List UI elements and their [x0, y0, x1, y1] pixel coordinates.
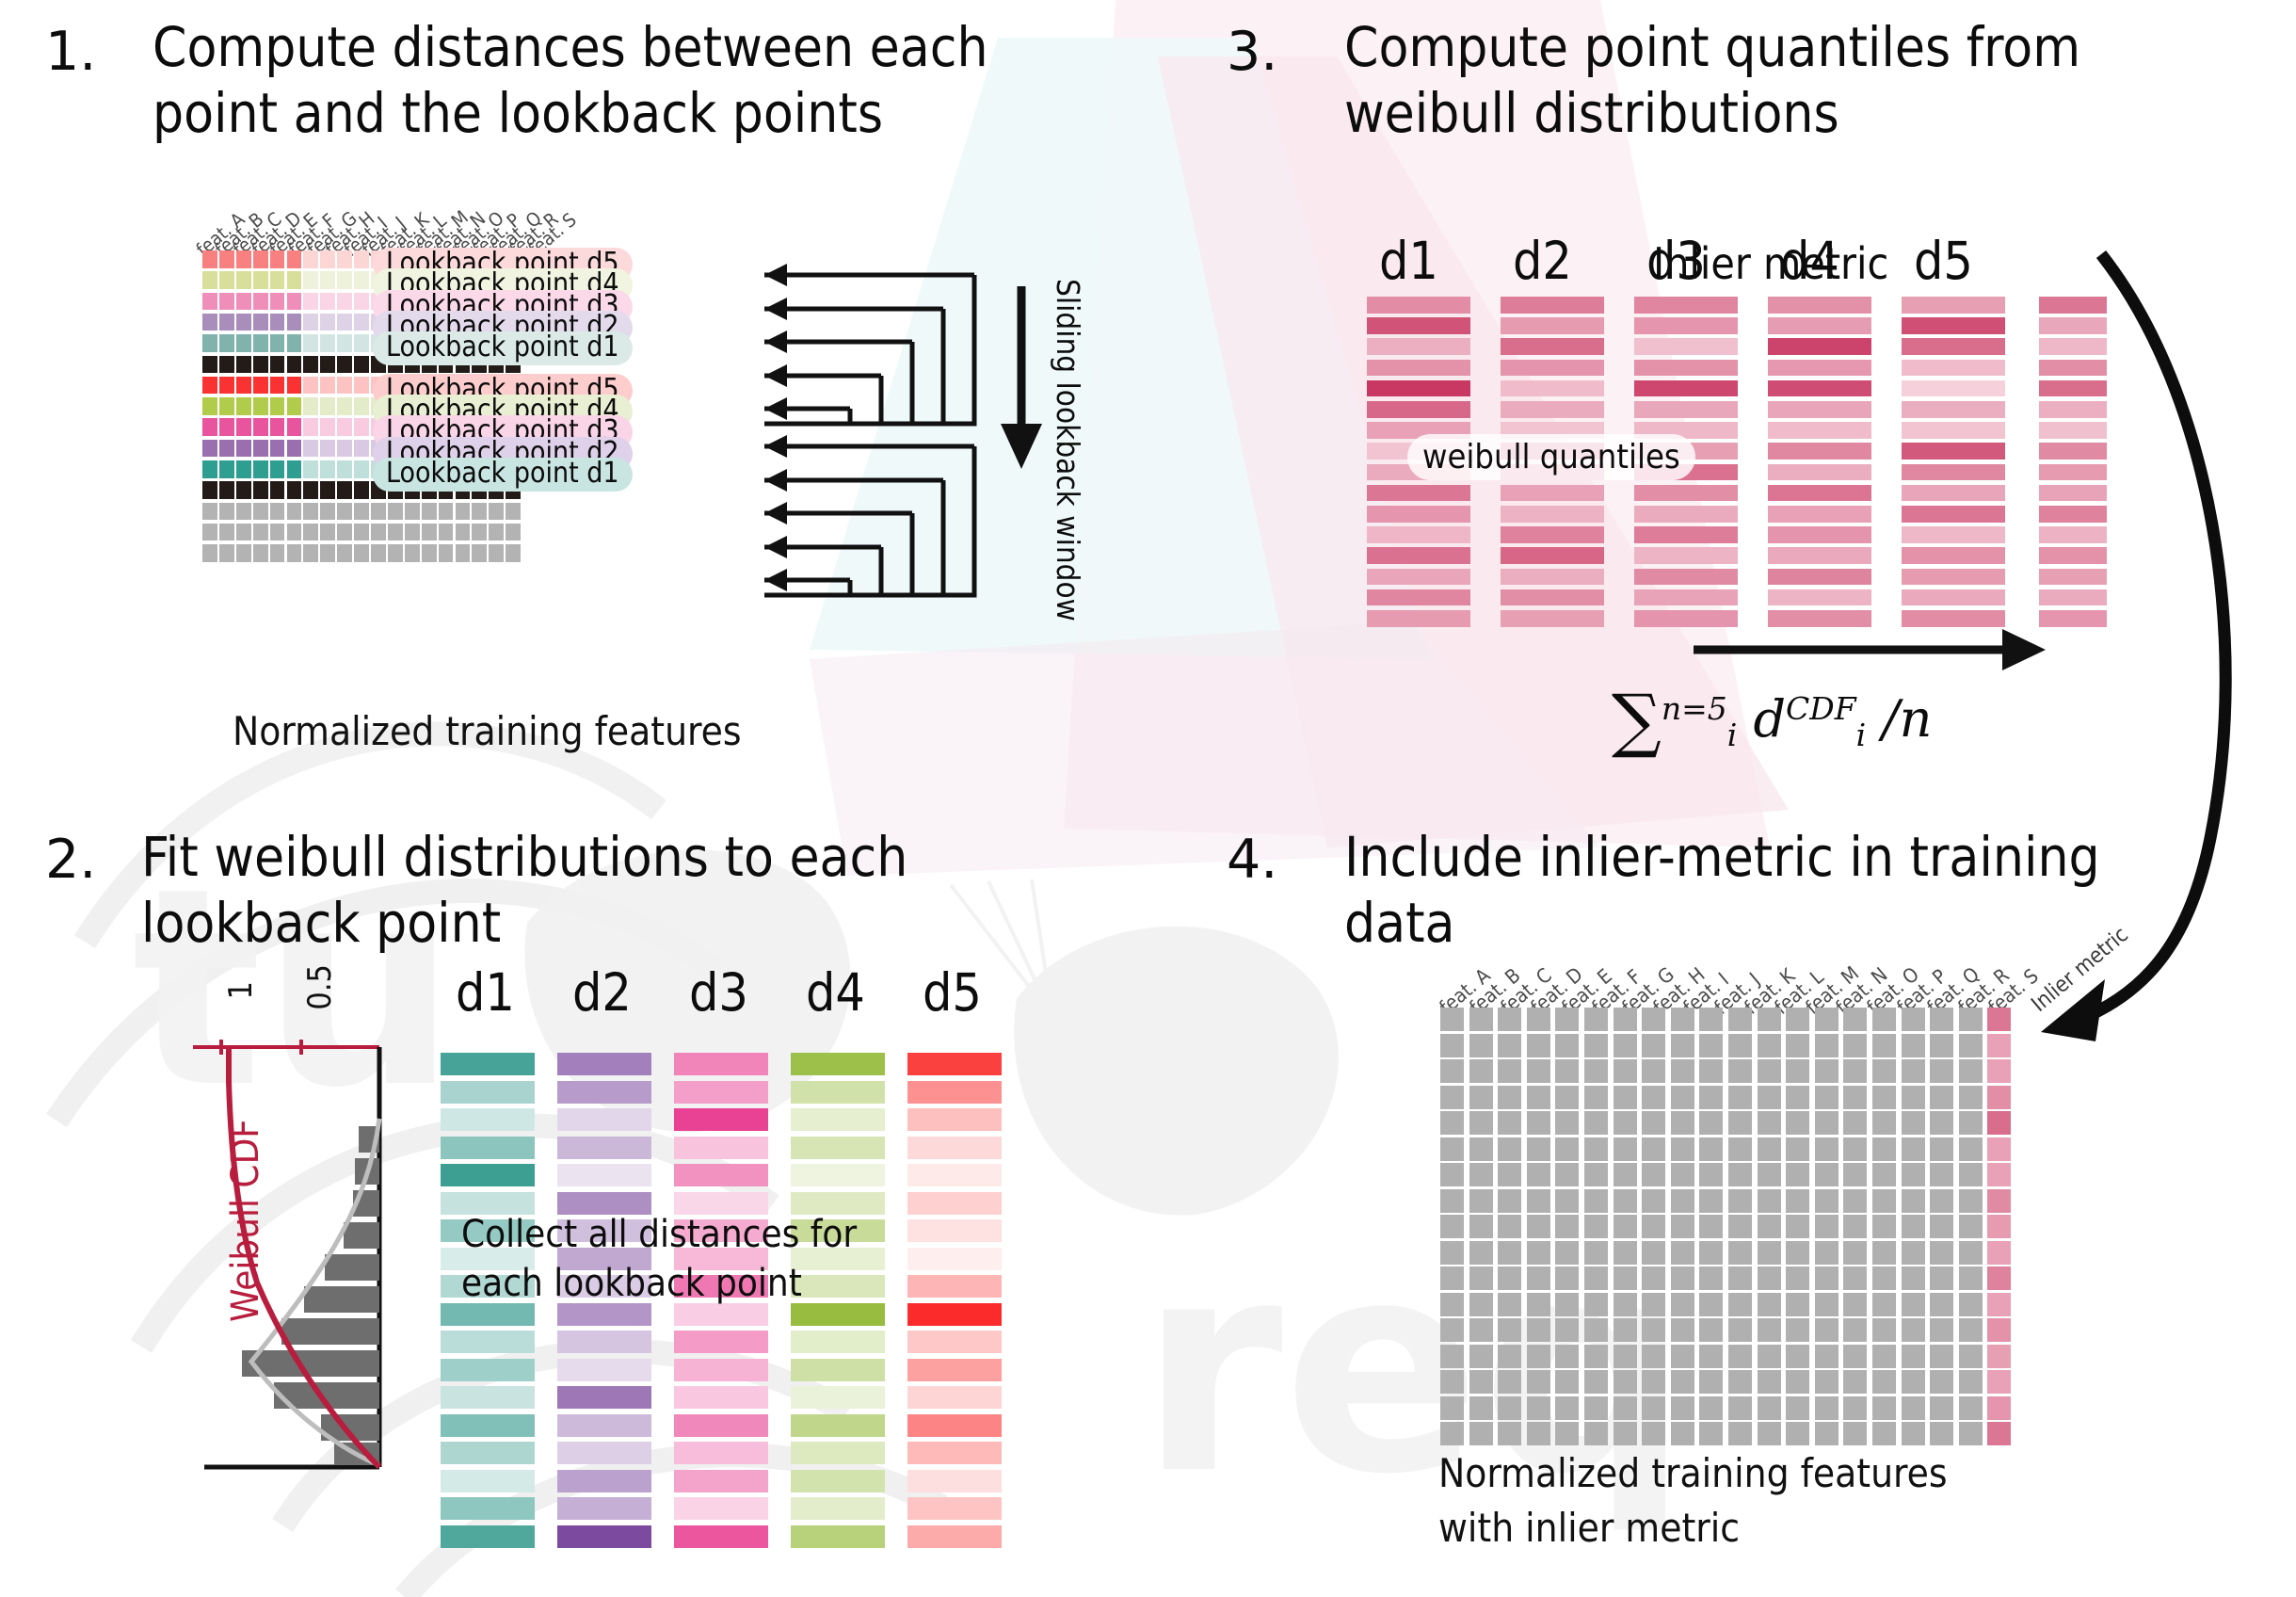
panel1-cell — [405, 503, 420, 521]
panel1-cell — [354, 271, 369, 289]
panel4-cell — [1440, 1059, 1464, 1083]
panel2-stack-cell — [674, 1192, 768, 1215]
panel4-cell — [1728, 1396, 1752, 1420]
panel3-heat-cell — [1501, 589, 1604, 606]
panel1-cell — [219, 397, 234, 415]
panel2-column-label-d4: d4 — [806, 962, 865, 1023]
panel4-cell — [1614, 1189, 1637, 1213]
panel3-heat-cell — [1768, 401, 1871, 418]
panel1-cell — [287, 314, 302, 331]
panel1-cell — [253, 481, 268, 499]
panel3-heat-cell — [1768, 547, 1871, 564]
panel2-stack-cell — [674, 1470, 768, 1492]
panel1-cell — [202, 250, 217, 268]
panel3-heat-cell — [1501, 610, 1604, 627]
panel4-cell — [1758, 1215, 1781, 1238]
panel1-cell — [456, 544, 471, 562]
panel2-stack-cell — [441, 1525, 535, 1548]
panel4-inlier-cell — [1987, 1034, 2011, 1057]
panel4-cell — [1498, 1086, 1521, 1109]
panel1-cell — [287, 418, 302, 436]
panel1-cell — [236, 250, 251, 268]
panel2-column-label-d2: d2 — [572, 962, 632, 1023]
panel4-cell — [1469, 1008, 1493, 1031]
panel2-stack-cell — [441, 1137, 535, 1159]
panel1-cell — [354, 314, 369, 331]
panel4-cell — [1786, 1189, 1809, 1213]
panel4-cell — [1758, 1111, 1781, 1135]
panel1-cell — [202, 334, 217, 352]
panel4-cell — [1786, 1059, 1809, 1083]
panel4-cell — [1498, 1215, 1521, 1238]
panel1-cell — [439, 524, 454, 541]
panel4-cell — [1758, 1370, 1781, 1394]
panel3-heat-cell — [1501, 338, 1604, 355]
panel1-cell — [287, 544, 302, 562]
panel4-cell — [1527, 1008, 1550, 1031]
panel4-cell — [1498, 1318, 1521, 1342]
panel4-cell — [1614, 1059, 1637, 1083]
panel1-cell — [202, 293, 217, 311]
panel4-cell — [1786, 1318, 1809, 1342]
panel1-cell — [354, 460, 369, 478]
panel4-cell — [1959, 1059, 1983, 1083]
panel2-stack-cell — [441, 1303, 535, 1326]
panel3-heat-cell — [1634, 297, 1738, 314]
panel1-cell — [270, 524, 285, 541]
panel4-cell — [1872, 1266, 1896, 1290]
panel1-cell — [472, 544, 487, 562]
panel1-cell — [354, 440, 369, 458]
panel4-cell — [1758, 1189, 1781, 1213]
panel4-cell — [1469, 1241, 1493, 1265]
weibull-cdf-curve-label: Weibull CDF — [224, 1119, 267, 1322]
panel4-cell — [1642, 1163, 1665, 1186]
panel1-cell — [202, 481, 217, 499]
panel4-cell — [1930, 1266, 1953, 1290]
panel4-cell — [1786, 1215, 1809, 1238]
panel4-cell — [1527, 1266, 1550, 1290]
panel4-cell — [1469, 1111, 1493, 1135]
panel4-cell — [1758, 1086, 1781, 1109]
panel4-cell — [1469, 1370, 1493, 1394]
panel1-cell — [219, 440, 234, 458]
panel4-cell — [1872, 1111, 1896, 1135]
panel4-cell — [1699, 1086, 1723, 1109]
panel1-arrow-connectors-lower — [744, 426, 988, 802]
panel3-title-line1: Compute point quantiles from — [1344, 17, 2080, 78]
panel3-heat-cell — [1367, 485, 1470, 502]
panel4-cell — [1930, 1293, 1953, 1316]
panel3-heat-cell — [1367, 297, 1470, 314]
panel2-stack-cell — [557, 1414, 651, 1437]
panel4-cell — [1642, 1034, 1665, 1057]
panel1-cell — [287, 397, 302, 415]
panel1-cell — [506, 544, 521, 562]
panel1-cell — [489, 503, 504, 521]
panel1-cell — [236, 524, 251, 541]
panel2-stack-cell — [791, 1164, 885, 1186]
panel4-cell — [1815, 1059, 1838, 1083]
panel4-cell — [1614, 1086, 1637, 1109]
panel2-stack-cell — [441, 1081, 535, 1104]
panel1-cell — [253, 377, 268, 395]
panel4-cell — [1872, 1396, 1896, 1420]
panel4-cell — [1440, 1137, 1464, 1161]
panel4-cell — [1786, 1293, 1809, 1316]
panel1-cell — [337, 524, 352, 541]
panel4-cell — [1527, 1059, 1550, 1083]
panel2-stack-cell — [674, 1359, 768, 1381]
panel1-cell — [287, 377, 302, 395]
panel1-cell — [337, 481, 352, 499]
panel3-heat-cell — [1902, 422, 2005, 439]
panel4-cell — [1498, 1059, 1521, 1083]
panel4-cell — [1555, 1215, 1579, 1238]
panel4-cell — [1555, 1293, 1579, 1316]
panel3-inlier-metric-label: Inlier metric — [1653, 238, 1888, 289]
panel1-cell — [456, 503, 471, 521]
panel3-heat-cell — [1768, 526, 1871, 543]
panel1-cell — [303, 314, 318, 331]
panel1-lookback-pill: Lookback point d1 — [373, 331, 633, 365]
panel4-cell — [1699, 1241, 1723, 1265]
panel2-stack-cell — [791, 1137, 885, 1159]
panel1-cell — [303, 544, 318, 562]
panel1-cell — [202, 356, 217, 374]
panel2-stack-cell — [907, 1248, 1002, 1270]
panel4-cell — [1555, 1370, 1579, 1394]
panel4-cell — [1930, 1163, 1953, 1186]
panel1-cell — [202, 377, 217, 395]
panel4-cell — [1527, 1396, 1550, 1420]
panel3-heat-cell — [1367, 317, 1470, 334]
panel4-cell — [1959, 1137, 1983, 1161]
panel4-cell — [1815, 1163, 1838, 1186]
panel1-cell — [337, 293, 352, 311]
panel4-cell — [1671, 1345, 1694, 1368]
panel1-cell — [405, 544, 420, 562]
panel1-cell — [354, 418, 369, 436]
panel4-cell — [1930, 1318, 1953, 1342]
panel2-stack-cell — [557, 1442, 651, 1464]
panel1-cell — [405, 524, 420, 541]
panel3-heat-cell — [1367, 589, 1470, 606]
panel4-cell — [1728, 1059, 1752, 1083]
panel4-cell — [1728, 1345, 1752, 1368]
panel1-cell — [270, 418, 285, 436]
panel4-cell — [1527, 1422, 1550, 1445]
panel3-heat-cell — [1768, 380, 1871, 397]
panel4-cell — [1872, 1086, 1896, 1109]
weibull-cdf-tick-05: 0.5 — [301, 964, 339, 1010]
panel1-cell — [270, 293, 285, 311]
panel3-heat-cell — [1634, 380, 1738, 397]
panel4-cell — [1440, 1318, 1464, 1342]
panel3-heat-cell — [1768, 338, 1871, 355]
panel4-cell — [1614, 1266, 1637, 1290]
panel4-cell — [1555, 1318, 1579, 1342]
panel4-cell — [1902, 1034, 1925, 1057]
panel1-cell — [320, 334, 335, 352]
panel1-cell — [236, 544, 251, 562]
panel4-caption-line1: Normalized training features — [1438, 1450, 1948, 1497]
panel4-cell — [1843, 1266, 1867, 1290]
panel1-cell — [253, 250, 268, 268]
panel1-cell — [253, 293, 268, 311]
panel1-cell — [253, 334, 268, 352]
panel4-cell — [1728, 1293, 1752, 1316]
panel4-cell — [1498, 1345, 1521, 1368]
panel2-stack-cell — [557, 1497, 651, 1520]
panel4-cell — [1440, 1396, 1464, 1420]
panel4-cell — [1902, 1241, 1925, 1265]
panel4-cell — [1699, 1163, 1723, 1186]
panel4-inlier-cell — [1987, 1241, 2011, 1265]
panel3-heat-cell — [1501, 485, 1604, 502]
panel1-cell — [506, 503, 521, 521]
panel2-stack-cell — [791, 1359, 885, 1381]
panel4-cell — [1614, 1008, 1637, 1031]
panel1-cell — [472, 503, 487, 521]
panel4-cell — [1843, 1318, 1867, 1342]
panel3-heat-cell — [1902, 485, 2005, 502]
panel4-title-line2: data — [1344, 893, 1455, 954]
panel3-heat-cell — [1902, 443, 2005, 460]
panel4-cell — [1555, 1034, 1579, 1057]
panel4-cell — [1872, 1137, 1896, 1161]
panel4-inlier-cell — [1987, 1318, 2011, 1342]
panel4-cell — [1699, 1137, 1723, 1161]
panel3-heat-cell — [1902, 338, 2005, 355]
panel4-cell — [1584, 1163, 1608, 1186]
panel2-stack-cell — [441, 1442, 535, 1464]
panel4-cell — [1527, 1189, 1550, 1213]
panel2-stack-cell — [907, 1192, 1002, 1215]
panel2-stack-cell — [557, 1053, 651, 1075]
panel1-cell — [236, 271, 251, 289]
panel1-cell — [337, 418, 352, 436]
panel4-cell — [1584, 1318, 1608, 1342]
panel3-heat-cell — [1367, 401, 1470, 418]
panel4-cell — [1786, 1008, 1809, 1031]
panel3-heat-cell — [1768, 360, 1871, 377]
panel3-heat-cell — [1501, 506, 1604, 523]
panel4-cell — [1469, 1137, 1493, 1161]
panel1-cell — [337, 334, 352, 352]
panel4-cell — [1786, 1396, 1809, 1420]
panel4-cell — [1872, 1189, 1896, 1213]
panel2-stack-cell — [441, 1108, 535, 1131]
panel4-cell — [1786, 1422, 1809, 1445]
panel2-stack-cell — [557, 1108, 651, 1131]
panel4-cell — [1728, 1241, 1752, 1265]
panel2-stack-cell — [557, 1331, 651, 1353]
panel4-cell — [1555, 1163, 1579, 1186]
panel2-stack-cell — [674, 1414, 768, 1437]
panel4-cell — [1930, 1034, 1953, 1057]
panel4-cell — [1843, 1345, 1867, 1368]
panel4-cell — [1728, 1189, 1752, 1213]
panel1-cell — [439, 544, 454, 562]
panel1-cell — [219, 314, 234, 331]
panel4-cell — [1555, 1008, 1579, 1031]
panel4-cell — [1642, 1111, 1665, 1135]
panel1-lookback-pill: Lookback point d1 — [373, 458, 633, 492]
panel4-cell — [1930, 1059, 1953, 1083]
panel4-cell — [1815, 1422, 1838, 1445]
panel2-stack-cell — [791, 1414, 885, 1437]
panel3-heat-cell — [1367, 547, 1470, 564]
panel4-cell — [1614, 1370, 1637, 1394]
panel2-stack-cell — [557, 1192, 651, 1215]
panel4-cell — [1699, 1189, 1723, 1213]
panel4-cell — [1671, 1370, 1694, 1394]
panel4-cell — [1728, 1318, 1752, 1342]
panel4-cell — [1469, 1266, 1493, 1290]
panel2-stack-cell — [557, 1525, 651, 1548]
panel4-cell — [1469, 1345, 1493, 1368]
panel4-cell — [1671, 1396, 1694, 1420]
panel4-cell — [1815, 1370, 1838, 1394]
panel1-cell — [287, 293, 302, 311]
panel2-title-line1: Fit weibull distributions to each — [141, 827, 907, 888]
panel2-stack-cell — [441, 1386, 535, 1409]
panel4-cell — [1440, 1086, 1464, 1109]
panel4-cell — [1758, 1034, 1781, 1057]
panel1-cell — [320, 460, 335, 478]
panel3-heat-cell — [1902, 401, 2005, 418]
panel4-cell — [1671, 1163, 1694, 1186]
panel1-cell — [236, 377, 251, 395]
panel1-cell — [270, 356, 285, 374]
panel1-cell — [253, 503, 268, 521]
panel4-inlier-cell — [1987, 1345, 2011, 1368]
panel1-cell — [270, 544, 285, 562]
panel4-cell — [1498, 1111, 1521, 1135]
panel2-stack-cell — [557, 1164, 651, 1186]
panel4-cell — [1815, 1111, 1838, 1135]
panel4-cell — [1930, 1396, 1953, 1420]
panel4-cell — [1584, 1189, 1608, 1213]
panel4-cell — [1642, 1241, 1665, 1265]
panel4-cell — [1642, 1370, 1665, 1394]
panel1-cell — [337, 440, 352, 458]
panel1-cell — [303, 524, 318, 541]
panel4-cell — [1527, 1137, 1550, 1161]
panel3-to-panel4-curved-arrow — [2015, 235, 2296, 1055]
panel4-cell — [1527, 1163, 1550, 1186]
panel1-cell — [219, 524, 234, 541]
panel4-cell — [1728, 1215, 1752, 1238]
panel3-heat-cell — [1768, 317, 1871, 334]
panel4-cell — [1584, 1422, 1608, 1445]
panel4-cell — [1959, 1266, 1983, 1290]
panel4-cell — [1758, 1422, 1781, 1445]
panel3-heat-cell — [1367, 526, 1470, 543]
panel4-cell — [1555, 1422, 1579, 1445]
panel2-stack-cell — [441, 1192, 535, 1215]
panel1-cell — [337, 377, 352, 395]
panel2-stack-cell — [907, 1275, 1002, 1298]
panel4-cell — [1671, 1086, 1694, 1109]
panel2-stack-cell — [674, 1386, 768, 1409]
panel1-cell — [219, 481, 234, 499]
panel4-cell — [1440, 1034, 1464, 1057]
panel4-cell — [1872, 1345, 1896, 1368]
panel2-stack-cell — [674, 1303, 768, 1326]
panel4-cell — [1584, 1111, 1608, 1135]
panel4-cell — [1614, 1111, 1637, 1135]
panel1-cell — [320, 356, 335, 374]
panel4-cell — [1699, 1318, 1723, 1342]
panel1-cell — [320, 271, 335, 289]
panel1-cell — [219, 334, 234, 352]
panel4-cell — [1758, 1163, 1781, 1186]
panel4-cell — [1843, 1396, 1867, 1420]
panel4-cell — [1786, 1086, 1809, 1109]
panel4-cell — [1671, 1293, 1694, 1316]
panel4-cell — [1584, 1215, 1608, 1238]
panel4-cell — [1758, 1266, 1781, 1290]
panel4-cell — [1959, 1111, 1983, 1135]
panel4-cell — [1614, 1293, 1637, 1316]
panel4-cell — [1642, 1086, 1665, 1109]
panel2-stack-cell — [791, 1053, 885, 1075]
panel4-cell — [1527, 1241, 1550, 1265]
panel2-stack-cell — [791, 1442, 885, 1464]
panel4-cell — [1728, 1422, 1752, 1445]
panel2-stack-cell — [907, 1303, 1002, 1326]
panel4-cell — [1440, 1345, 1464, 1368]
panel4-cell — [1728, 1370, 1752, 1394]
panel4-cell — [1642, 1059, 1665, 1083]
panel4-cell — [1959, 1345, 1983, 1368]
panel4-cell — [1959, 1318, 1983, 1342]
panel4-cell — [1671, 1034, 1694, 1057]
panel4-inlier-cell — [1987, 1008, 2011, 1031]
panel1-cell — [422, 503, 437, 521]
panel2-title-line2: lookback point — [141, 893, 501, 954]
panel4-cell — [1728, 1086, 1752, 1109]
panel4-cell — [1815, 1215, 1838, 1238]
panel4-cell — [1902, 1318, 1925, 1342]
panel3-heat-cell — [1634, 569, 1738, 586]
panel3-heat-cell — [1367, 338, 1470, 355]
panel2-stack-cell — [441, 1164, 535, 1186]
panel4-cell — [1815, 1293, 1838, 1316]
panel3-heat-cell — [1367, 380, 1470, 397]
panel3-column-label-d1: d1 — [1379, 231, 1438, 291]
panel4-cell — [1786, 1345, 1809, 1368]
panel1-cell — [270, 440, 285, 458]
panel1-cell — [287, 481, 302, 499]
panel1-cell — [337, 250, 352, 268]
panel1-cell — [422, 524, 437, 541]
panel1-cell — [320, 293, 335, 311]
panel4-cell — [1584, 1008, 1608, 1031]
panel4-cell — [1699, 1345, 1723, 1368]
panel1-cell — [219, 418, 234, 436]
panel1-cell — [337, 460, 352, 478]
panel4-cell — [1671, 1059, 1694, 1083]
panel1-cell — [354, 356, 369, 374]
panel2-stack-cell — [441, 1359, 535, 1381]
panel2-stack-cell — [557, 1303, 651, 1326]
panel4-inlier-cell — [1987, 1111, 2011, 1135]
panel4-cell — [1555, 1086, 1579, 1109]
panel4-cell — [1902, 1111, 1925, 1135]
